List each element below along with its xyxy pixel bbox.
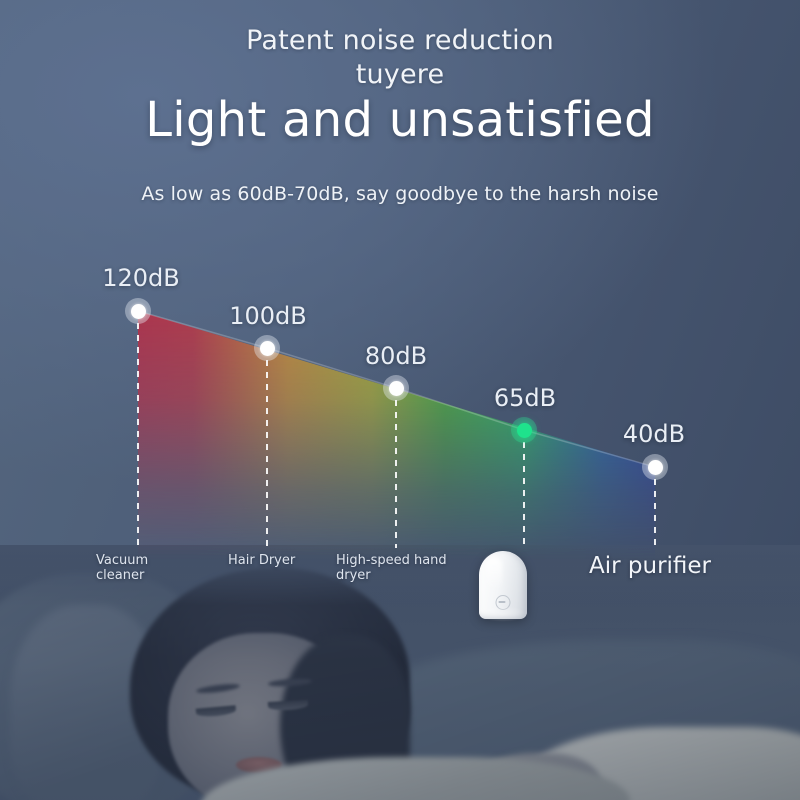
- data-label-2: 80dB: [365, 342, 427, 370]
- category-label-line-1: Hair Dryer: [228, 553, 338, 568]
- data-label-4: 40dB: [623, 420, 685, 448]
- category-label-line-2: dryer: [336, 568, 466, 583]
- air-purifier-product-image: [479, 551, 527, 619]
- data-point-4[interactable]: [642, 454, 668, 480]
- data-point-1[interactable]: [254, 335, 280, 361]
- data-point-2[interactable]: [383, 375, 409, 401]
- product-glow: [467, 603, 539, 625]
- data-label-0: 120dB: [102, 264, 180, 292]
- product-highlight: [486, 557, 502, 591]
- data-label-3: 65dB: [494, 384, 556, 412]
- category-label-line-1: Air purifier: [589, 553, 779, 580]
- data-point-3-highlight[interactable]: [511, 417, 537, 443]
- category-label-line-1: Vacuum: [96, 553, 186, 568]
- promo-banner: Patent noise reduction tuyere Light and …: [0, 0, 800, 800]
- chart-color-band: [120, 300, 680, 570]
- category-label-vacuum-cleaner: Vacuum cleaner: [96, 553, 186, 584]
- noise-comparison-chart: 120dB 100dB 80dB 65dB 40dB Vacuum cleane…: [0, 0, 800, 800]
- category-label-high-speed-hand-dryer: High-speed hand dryer: [336, 553, 466, 584]
- category-label-line-1: High-speed hand: [336, 553, 466, 568]
- data-point-0[interactable]: [125, 298, 151, 324]
- category-label-air-purifier: Air purifier: [589, 553, 779, 580]
- category-label-line-2: cleaner: [96, 568, 186, 583]
- data-label-1: 100dB: [229, 302, 307, 330]
- category-label-hair-dryer: Hair Dryer: [228, 553, 338, 568]
